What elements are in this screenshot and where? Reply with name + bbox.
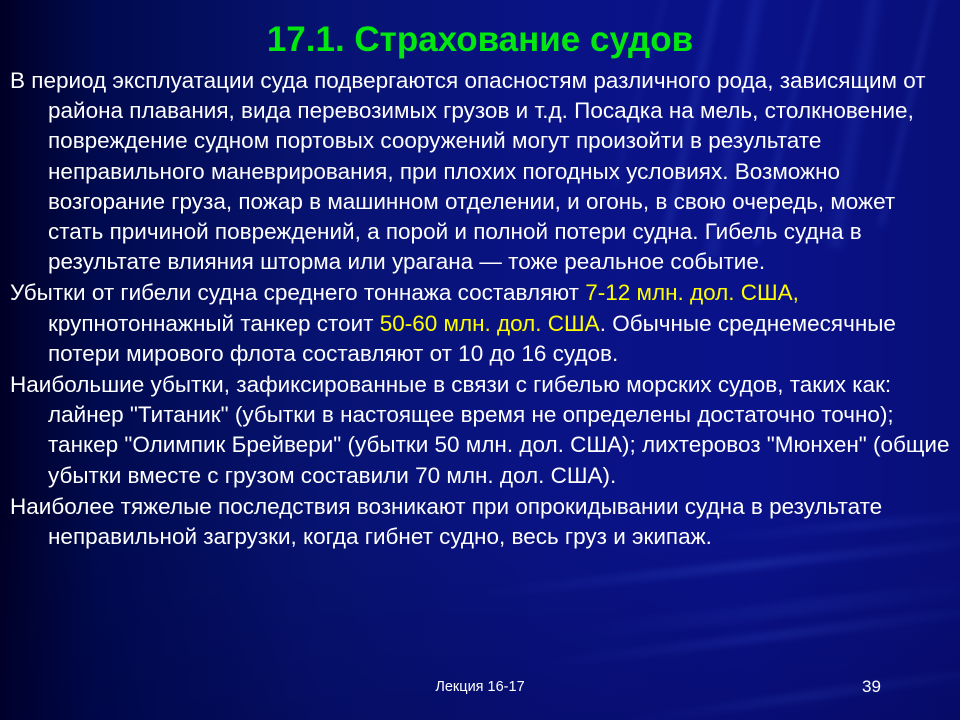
paragraph-1: В период эксплуатации суда подвергаются …: [10, 66, 952, 277]
paragraph-2: Убытки от гибели судна среднего тоннажа …: [10, 278, 952, 369]
paragraph-3: Наибольшие убытки, зафиксированные в свя…: [10, 370, 952, 491]
highlighted-text: 50-60 млн. дол. США: [380, 311, 600, 336]
highlighted-text: 7-12 млн. дол. США,: [585, 280, 799, 305]
slide-body: В период эксплуатации суда подвергаются …: [10, 66, 952, 553]
body-text: Наибольшие убытки, зафиксированные в свя…: [10, 372, 950, 488]
body-text: В период эксплуатации суда подвергаются …: [10, 68, 926, 274]
background-streak: [521, 598, 960, 671]
background-streak: [561, 573, 960, 642]
presentation-slide: 17.1. Страхование судов В период эксплуа…: [0, 0, 960, 720]
body-text: Убытки от гибели судна среднего тоннажа …: [10, 280, 585, 305]
body-text: крупнотоннажный танкер стоит: [48, 311, 380, 336]
paragraph-4: Наиболее тяжелые последствия возникают п…: [10, 492, 952, 552]
page-number: 39: [862, 677, 922, 697]
slide-title: 17.1. Страхование судов: [0, 19, 960, 61]
body-text: Наиболее тяжелые последствия возникают п…: [10, 494, 882, 549]
footer-label: Лекция 16-17: [0, 678, 960, 696]
